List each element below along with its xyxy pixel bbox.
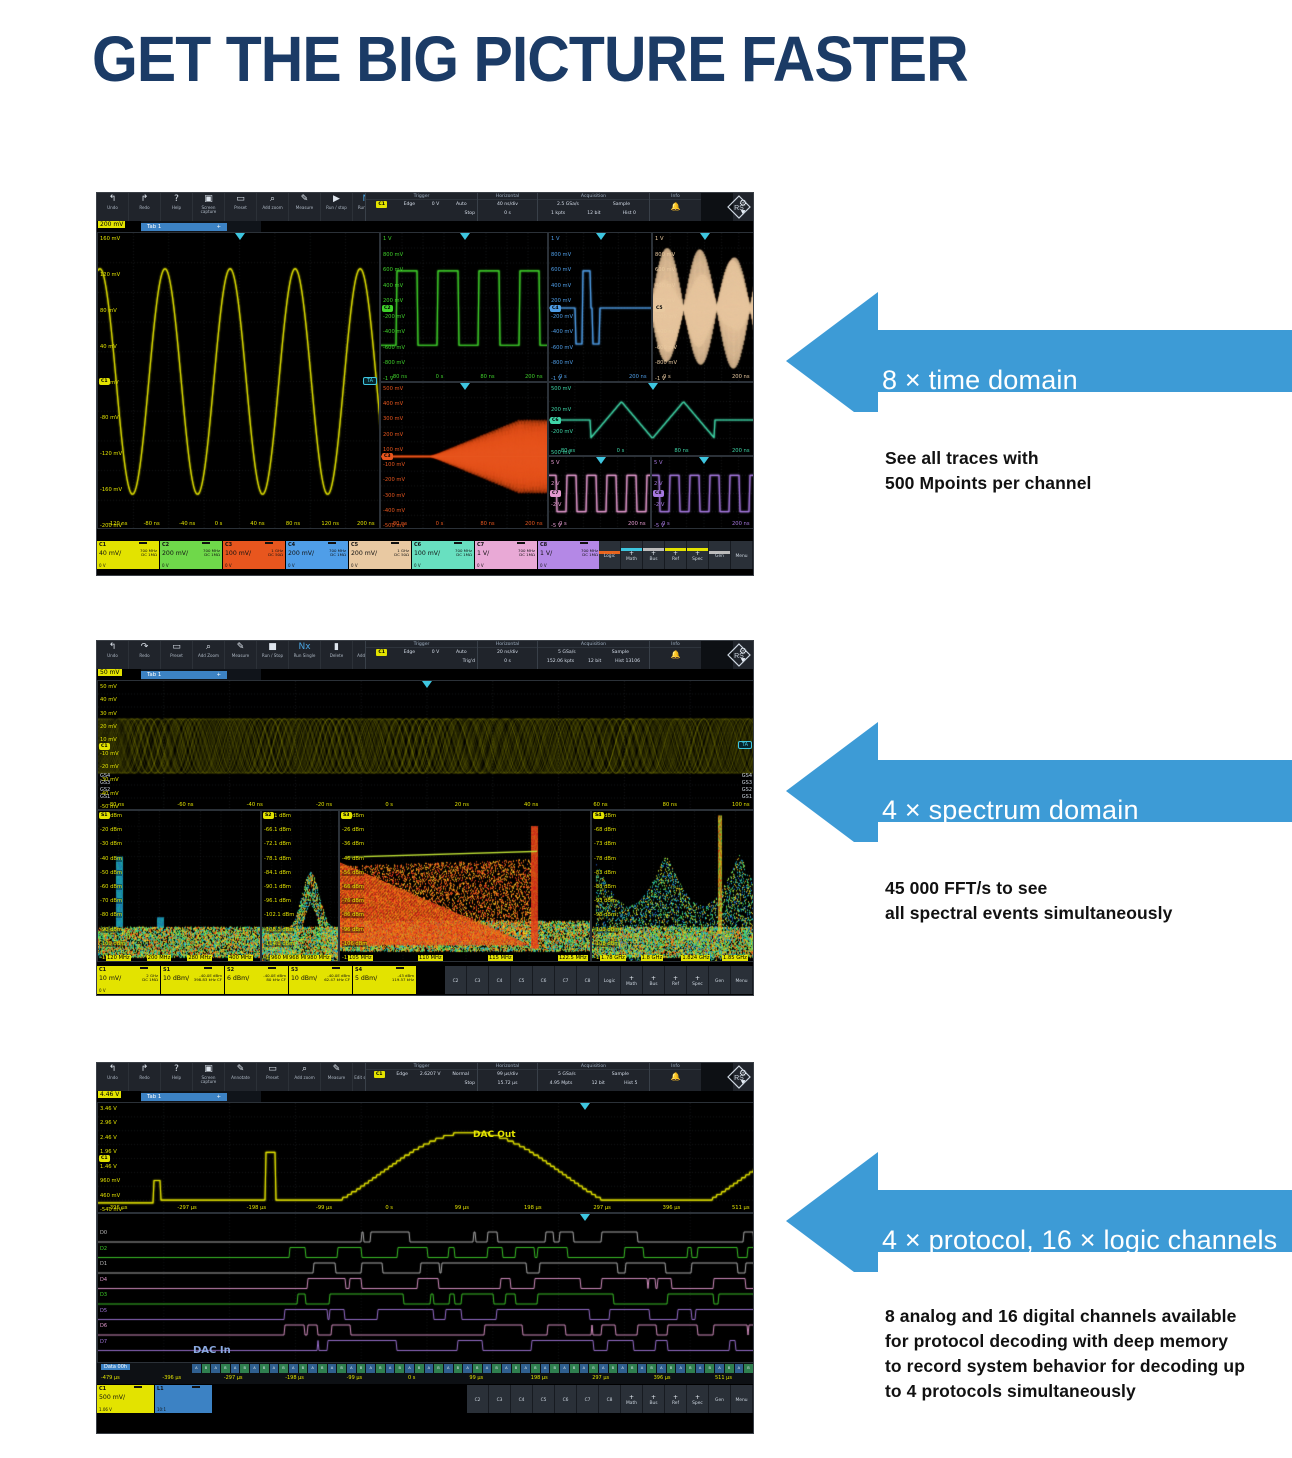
- waveform-panel-c2[interactable]: 1 V800 mV600 mV400 mV200 mV-200 mV-400 m…: [380, 232, 548, 382]
- bus-frame[interactable]: A: [270, 1364, 279, 1373]
- channel-collapse-icon[interactable]: [454, 542, 462, 544]
- function-button-menu[interactable]: Menu: [731, 1385, 753, 1413]
- spectrum-tag-s3[interactable]: S3: [341, 812, 352, 819]
- tab-item-tab1[interactable]: Tab 1+: [141, 671, 227, 679]
- toolbar-button-redo[interactable]: ↱Redo: [129, 193, 161, 221]
- bus-label: Data 00h: [101, 1364, 130, 1370]
- channel-collapse-icon[interactable]: [332, 967, 340, 969]
- function-button-label: C5: [541, 1398, 547, 1403]
- trigger-status-group[interactable]: TriggerC1Edge0 VAutoStop: [365, 193, 477, 221]
- bus-frame[interactable]: B: [299, 1364, 308, 1373]
- x-axis-label: -80 ns: [391, 374, 407, 380]
- bus-frame[interactable]: B: [512, 1364, 521, 1373]
- channel-box-c5[interactable]: C5200 mV/1 GHzDC 50Ω0 V: [349, 541, 412, 569]
- acquisition-row-2: 152.06 kpts12 bitHist 13106: [538, 657, 649, 666]
- toolbar-button-preset[interactable]: ▭Preset: [257, 1063, 289, 1091]
- y-axis-label: 1.46 V: [100, 1164, 117, 1170]
- protocol-bus-row[interactable]: Data 00hABABABABABABABABABABABABABABABAB…: [97, 1363, 754, 1374]
- function-button-logic[interactable]: Logic: [599, 966, 621, 994]
- y-axis-label: -600 mV: [551, 345, 573, 351]
- waveform-panel-c5[interactable]: 1 V800 mV600 mV400 mV200 mV-200 mV-400 m…: [652, 232, 754, 382]
- toolbar-label: Preset: [234, 206, 247, 210]
- measure-icon: ✎: [333, 1065, 341, 1075]
- bus-frame[interactable]: B: [570, 1364, 579, 1373]
- bus-frame[interactable]: B: [492, 1364, 501, 1373]
- function-button-math[interactable]: +Math: [621, 541, 643, 569]
- channel-bandwidth-coupling: 700 MHzDC 1MΩ: [581, 549, 598, 558]
- bus-frame[interactable]: B: [609, 1364, 618, 1373]
- y-axis-label: 2 V: [654, 481, 663, 487]
- trigger-position-marker[interactable]: [580, 1103, 590, 1110]
- channel-tag-c1[interactable]: C1: [99, 378, 110, 385]
- channel-bandwidth-coupling: 700 MHzDC 1MΩ: [455, 549, 472, 558]
- trigger-position-marker[interactable]: [700, 233, 710, 240]
- logic-channels-panel[interactable]: D0D2D1D4D3D5D6D7DAC In: [97, 1213, 754, 1363]
- waveform-panel-c7[interactable]: 5 V2 V-2 V-5 V0 s200 nsC7: [548, 456, 651, 529]
- channel-collapse-icon[interactable]: [517, 542, 525, 544]
- bus-frame[interactable]: B: [454, 1364, 463, 1373]
- y-axis-label: 2.96 V: [100, 1120, 117, 1126]
- tab-item-tab1[interactable]: Tab 1+: [141, 223, 227, 231]
- toolbar-button-measure[interactable]: ✎Measure: [321, 1063, 353, 1091]
- function-button-label: C2: [453, 979, 459, 984]
- bus-frame[interactable]: B: [647, 1364, 656, 1373]
- toolbar-button-delete[interactable]: ▮Delete: [321, 641, 353, 669]
- function-button-menu[interactable]: Menu: [731, 541, 753, 569]
- bus-frame[interactable]: A: [735, 1364, 744, 1373]
- function-button-label: Menu: [735, 554, 747, 559]
- function-button-gen[interactable]: Gen: [709, 1385, 731, 1413]
- y-axis-label: 50 mV: [100, 684, 117, 690]
- bus-frame[interactable]: A: [347, 1364, 356, 1373]
- info-group[interactable]: Info🔔: [649, 1063, 701, 1091]
- toolbar-button-screen-capture[interactable]: ▣Screen capture: [193, 193, 225, 221]
- toolbar-button-add-zoom[interactable]: ⌕Add zoom: [289, 1063, 321, 1091]
- waveform-panel-c8[interactable]: 5 V2 V-2 V-5 V0 s200 nsC8: [651, 456, 754, 529]
- x-axis-label: 100 ns: [732, 802, 750, 808]
- toolbar-button-redo[interactable]: ↷Redo: [129, 641, 161, 669]
- bus-frame[interactable]: A: [463, 1364, 472, 1373]
- spectrum-panel-s4[interactable]: -63 dBm-68 dBm-73 dBm-78 dBm-83 dBm-88 d…: [591, 810, 754, 962]
- logic-line-label-d1: D1: [100, 1261, 107, 1267]
- bus-frame[interactable]: A: [366, 1364, 375, 1373]
- trigger-type: Edge: [404, 201, 416, 208]
- toolbar-button-undo[interactable]: ↰Undo: [97, 1063, 129, 1091]
- trigger-mode: Auto: [456, 201, 467, 208]
- y-axis-label: -300 mV: [383, 493, 405, 499]
- function-button-c2[interactable]: C2: [445, 966, 467, 994]
- function-button-gen[interactable]: Gen: [709, 966, 731, 994]
- toolbar-button-run-stop[interactable]: ■Run / Stop: [257, 641, 289, 669]
- toolbar-label: Screen capture: [193, 206, 224, 215]
- spectrum-tag-s4[interactable]: S4: [593, 812, 604, 819]
- function-button-label: Gen: [715, 979, 724, 984]
- channel-vertical-scale: 1 V/: [477, 550, 489, 557]
- trigger-position-marker[interactable]: [460, 383, 470, 390]
- channel-offset: 0 V: [477, 563, 484, 568]
- bus-frame[interactable]: A: [580, 1364, 589, 1373]
- spectrum-panel-s3[interactable]: -16 dBm-26 dBm-36 dBm-46 dBm-56 dBm-66 d…: [339, 810, 591, 962]
- channel-tag-c3[interactable]: C3: [382, 453, 393, 460]
- bus-frame[interactable]: B: [221, 1364, 230, 1373]
- channel-tag-c1[interactable]: C1: [99, 743, 110, 750]
- toolbar-button-undo[interactable]: ↰Undo: [97, 641, 129, 669]
- time-axis-label: 297 µs: [592, 1375, 609, 1381]
- bus-frame[interactable]: A: [289, 1364, 298, 1373]
- function-button-c4[interactable]: C4: [511, 1385, 533, 1413]
- toolbar-label: Redo: [139, 1076, 149, 1080]
- channel-collapse-icon[interactable]: [192, 1386, 200, 1388]
- channel-box-s1[interactable]: S110 dBm/-40.0E dBm398.83 kHz CF: [161, 966, 225, 994]
- toolbar-button-run-single[interactable]: NxRun Single: [289, 641, 321, 669]
- channel-tag-c8[interactable]: C8: [653, 490, 664, 497]
- bus-frame[interactable]: B: [725, 1364, 734, 1373]
- bus-frame[interactable]: B: [589, 1364, 598, 1373]
- channel-collapse-icon[interactable]: [328, 542, 336, 544]
- channel-box-c7[interactable]: C71 V/700 MHzDC 1MΩ0 V: [475, 541, 538, 569]
- undo-icon: ↰: [109, 195, 117, 205]
- tab-add-button[interactable]: +: [216, 672, 221, 678]
- bus-frame[interactable]: B: [744, 1364, 753, 1373]
- y-axis-label: -73 dBm: [594, 841, 616, 847]
- info-group[interactable]: Info🔔: [649, 641, 701, 669]
- function-button-c3[interactable]: C3: [467, 966, 489, 994]
- acquisition-res: 12 bit: [588, 658, 601, 665]
- channel-offset: 0 V: [288, 563, 295, 568]
- trigger-status-group[interactable]: TriggerC1Edge2.6207 VNormalStop: [365, 1063, 477, 1091]
- tab-item-tab1[interactable]: Tab 1+: [141, 1093, 227, 1101]
- channel-tag-c4[interactable]: C4: [550, 305, 561, 312]
- bus-frame[interactable]: A: [676, 1364, 685, 1373]
- svg-text:RS: RS: [734, 653, 744, 660]
- channel-vertical-scale: 500 mV/: [99, 1394, 125, 1401]
- function-button-c2[interactable]: C2: [467, 1385, 489, 1413]
- bus-frame[interactable]: A: [638, 1364, 647, 1373]
- toolbar-button-help[interactable]: ?Help: [161, 1063, 193, 1091]
- bus-frame[interactable]: A: [328, 1364, 337, 1373]
- bus-frame[interactable]: B: [202, 1364, 211, 1373]
- bus-frame[interactable]: B: [550, 1364, 559, 1373]
- y-axis-label: 200 mV: [383, 298, 403, 304]
- channel-collapse-icon[interactable]: [268, 967, 276, 969]
- waveform-panel-c1[interactable]: 50 mV40 mV30 mV20 mV10 mV-10 mV-20 mV-30…: [97, 680, 754, 810]
- function-button-c3[interactable]: C3: [489, 1385, 511, 1413]
- bus-frame[interactable]: B: [279, 1364, 288, 1373]
- function-button-ref[interactable]: +Ref: [665, 966, 687, 994]
- function-button-c6[interactable]: C6: [555, 1385, 577, 1413]
- function-button-ref[interactable]: +Ref: [665, 541, 687, 569]
- logic-canvas: [98, 1214, 754, 1363]
- channel-vertical-scale: 10 mV/: [99, 975, 121, 982]
- trigger-position-marker[interactable]: [596, 233, 606, 240]
- bus-frame[interactable]: B: [260, 1364, 269, 1373]
- waveform-panel-c4[interactable]: 1 V800 mV600 mV400 mV200 mV-200 mV-400 m…: [548, 232, 652, 382]
- acquisition-hist: Hist 5: [624, 1080, 637, 1087]
- y-axis-label: -40 dBm: [100, 856, 122, 862]
- x-axis-label: -80 ns: [144, 521, 160, 527]
- function-button-spec[interactable]: +Spec: [687, 966, 709, 994]
- horizontal-settings-group[interactable]: Horizontal99 µs/div15.72 µs: [477, 1063, 537, 1091]
- y-axis-label: -200 mV: [383, 477, 405, 483]
- channel-box-c8[interactable]: C81 V/700 MHzDC 1MΩ0 V: [538, 541, 601, 569]
- bus-frame[interactable]: B: [667, 1364, 676, 1373]
- horizontal-title: Horizontal: [478, 193, 537, 200]
- channel-collapse-icon[interactable]: [204, 967, 212, 969]
- channel-collapse-icon[interactable]: [139, 542, 147, 544]
- toolbar-button-measure[interactable]: ✎Measure: [289, 193, 321, 221]
- channel-detail: -40.0E dBm62.47 kHz CF: [324, 974, 350, 983]
- bus-frame[interactable]: A: [502, 1364, 511, 1373]
- spectrum-tag-s2[interactable]: S2: [263, 812, 274, 819]
- channel-box-c6[interactable]: C6100 mV/700 MHzDC 1MΩ0 V: [412, 541, 475, 569]
- channel-box-s4[interactable]: S45 dBm/-43 dBm119.57 kHz: [353, 966, 417, 994]
- channel-tag-c6[interactable]: C6: [550, 417, 561, 424]
- bus-frame[interactable]: B: [686, 1364, 695, 1373]
- horizontal-row-2: 15.72 µs: [478, 1079, 537, 1088]
- toolbar-button-run-stop[interactable]: ▶Run / stop: [321, 193, 353, 221]
- toolbar-label: Measure: [232, 654, 249, 658]
- bus-frame[interactable]: A: [425, 1364, 434, 1373]
- tab-add-button[interactable]: +: [216, 224, 221, 230]
- bus-frame[interactable]: B: [415, 1364, 424, 1373]
- bus-frame[interactable]: A: [386, 1364, 395, 1373]
- channel-collapse-icon[interactable]: [140, 967, 148, 969]
- trigger-position-marker[interactable]: [648, 383, 658, 390]
- acquisition-settings-group[interactable]: Acquisition5 GSa/sSample4.95 Mpts12 bitH…: [537, 1063, 649, 1091]
- x-axis-label: 1.78 GHz: [600, 955, 626, 961]
- function-button-ref[interactable]: +Ref: [665, 1385, 687, 1413]
- x-axis-label: 105 MHz: [348, 955, 373, 961]
- gate-marker-gs4: GS4: [100, 773, 110, 779]
- y-axis-label: 5 V: [551, 460, 560, 466]
- function-button-bus[interactable]: +Bus: [643, 1385, 665, 1413]
- acquisition-rate: 2.5 GSa/s: [557, 201, 579, 208]
- bus-frame[interactable]: A: [192, 1364, 201, 1373]
- toolbar-button-help[interactable]: ?Help: [161, 193, 193, 221]
- function-button-bar: C2C3C4C5C6C7C8Logic+Math+Bus+Ref+SpecGen…: [445, 966, 753, 994]
- bus-frame[interactable]: A: [405, 1364, 414, 1373]
- channel-tag-c7[interactable]: C7: [550, 490, 561, 497]
- logic-line-label-d2: D2: [100, 1246, 107, 1252]
- channel-bandwidth-coupling: 700 MHzDC 1MΩ: [518, 549, 535, 558]
- channel-bandwidth-coupling: 700 MHzDC 1MΩ: [140, 549, 157, 558]
- y-axis-label: -20 mV: [100, 764, 119, 770]
- bus-frame[interactable]: B: [376, 1364, 385, 1373]
- rohde-schwarz-logo: RS: [727, 1065, 751, 1089]
- y-axis-label: 400 mV: [551, 283, 571, 289]
- trigger-position-marker[interactable]: [422, 681, 432, 688]
- bus-frame[interactable]: B: [318, 1364, 327, 1373]
- channel-vertical-scale: 10 dBm/: [291, 975, 317, 982]
- channel-tag-c1[interactable]: C1: [99, 1155, 110, 1162]
- y-axis-label: 120 mV: [100, 272, 120, 278]
- x-axis-label: 1.8 GHz: [641, 955, 664, 961]
- waveform-panel-c3[interactable]: 500 mV400 mV300 mV200 mV100 mV-100 mV-20…: [380, 382, 548, 529]
- bus-frame[interactable]: A: [618, 1364, 627, 1373]
- function-button-c5[interactable]: C5: [511, 966, 533, 994]
- trigger-status-group[interactable]: TriggerC1Edge0 VAutoTrig'd: [365, 641, 477, 669]
- trigger-position-marker[interactable]: [596, 457, 606, 464]
- function-button-c8[interactable]: C8: [577, 966, 599, 994]
- y-axis-label: 800 mV: [551, 252, 571, 258]
- bus-frame[interactable]: B: [357, 1364, 366, 1373]
- channel-collapse-icon[interactable]: [580, 542, 588, 544]
- gate-marker-gs2: GS2: [100, 787, 110, 793]
- channel-collapse-icon[interactable]: [391, 542, 399, 544]
- channel-collapse-icon[interactable]: [134, 1386, 142, 1388]
- toolbar-button-preset[interactable]: ▭Preset: [161, 641, 193, 669]
- bus-frame[interactable]: A: [483, 1364, 492, 1373]
- y-axis-label: 200 mV: [655, 298, 675, 304]
- function-button-c4[interactable]: C4: [489, 966, 511, 994]
- svg-text:RS: RS: [734, 205, 744, 212]
- toolbar-button-preset[interactable]: ▭Preset: [225, 193, 257, 221]
- logic-trigger-marker[interactable]: [580, 1214, 590, 1221]
- bus-frame[interactable]: B: [240, 1364, 249, 1373]
- y-axis-label: 600 mV: [655, 267, 675, 273]
- channel-box-c2[interactable]: C2200 mV/700 MHzDC 1MΩ0 V: [160, 541, 223, 569]
- toolbar-button-screen-capture[interactable]: ▣Screen capture: [193, 1063, 225, 1091]
- function-button-menu[interactable]: Menu: [731, 966, 753, 994]
- function-button-label: Bus: [649, 1401, 657, 1406]
- channel-box-c1[interactable]: C1500 mV/1.06 V: [97, 1385, 155, 1413]
- redo-icon: ↷: [141, 643, 149, 653]
- waveform-panel-c1[interactable]: 160 mV120 mV80 mV40 mV-40 mV-80 mV-120 m…: [97, 232, 380, 529]
- toolbar-label: Redo: [139, 206, 149, 210]
- toolbar-button-annotate[interactable]: ✎Annotate: [225, 1063, 257, 1091]
- channel-box-c1[interactable]: C110 mV/2 GHzDC 1MΩ0 V: [97, 966, 161, 994]
- channel-collapse-icon[interactable]: [396, 967, 404, 969]
- horizontal-settings-group[interactable]: Horizontal20 ns/div0 s: [477, 641, 537, 669]
- waveform-panel-c6[interactable]: 500 mV200 mV-200 mV500 mV-80 ns0 s80 ns2…: [548, 382, 754, 456]
- bus-frame[interactable]: B: [531, 1364, 540, 1373]
- acquisition-settings-group[interactable]: Acquisition2.5 GSa/sSample1 kpts12 bitHi…: [537, 193, 649, 221]
- trigger-position-marker[interactable]: [235, 233, 245, 240]
- y-axis-label: -400 mV: [655, 329, 677, 335]
- trigger-position-marker[interactable]: [460, 233, 470, 240]
- toolbar-button-add-zoom[interactable]: ⌕Add zoom: [257, 193, 289, 221]
- spectrum-tag-s1[interactable]: S1: [99, 812, 110, 819]
- function-button-spec[interactable]: +Spec: [687, 1385, 709, 1413]
- trigger-position-marker[interactable]: [699, 457, 709, 464]
- toolbar-button-undo[interactable]: ↰Undo: [97, 193, 129, 221]
- function-button-math[interactable]: +Math: [621, 1385, 643, 1413]
- y-axis-label: -400 mV: [551, 329, 573, 335]
- acquisition-row-1: 5 GSa/sSample: [538, 648, 649, 657]
- function-button-label: C7: [563, 979, 569, 984]
- function-button-bar: Logic+Math+Bus+Ref+SpecGenMenu: [599, 541, 753, 569]
- bus-frame[interactable]: A: [599, 1364, 608, 1373]
- bus-frame[interactable]: A: [560, 1364, 569, 1373]
- y-axis-label: 800 mV: [383, 252, 403, 258]
- waveform-panel-c1[interactable]: 3.46 V2.96 V2.46 V1.96 V1.46 V960 mV460 …: [97, 1102, 754, 1213]
- channel-tag-c2[interactable]: C2: [382, 305, 393, 312]
- trigger-title: Trigger: [366, 193, 477, 200]
- bus-frame[interactable]: A: [250, 1364, 259, 1373]
- bus-frame[interactable]: B: [473, 1364, 482, 1373]
- toolbar-label: Help: [172, 206, 181, 210]
- function-button-logic[interactable]: Logic: [599, 541, 621, 569]
- y-axis-label: -72.1 dBm: [264, 841, 291, 847]
- trigger-level: 0 V: [432, 201, 440, 208]
- y-axis-label: -36 dBm: [342, 841, 364, 847]
- bus-frame[interactable]: B: [337, 1364, 346, 1373]
- channel-vertical-scale: 200 mV/: [288, 550, 314, 557]
- trigger-level-marker-ta[interactable]: TA: [363, 377, 377, 385]
- x-axis-label: 200 ns: [732, 374, 750, 380]
- bus-frame[interactable]: A: [541, 1364, 550, 1373]
- toolbar-button-add-zoom[interactable]: ⌕Add Zoom: [193, 641, 225, 669]
- channel-bandwidth-coupling: 700 MHzDC 1MΩ: [203, 549, 220, 558]
- bus-frame[interactable]: B: [395, 1364, 404, 1373]
- bus-frame[interactable]: B: [434, 1364, 443, 1373]
- function-button-gen[interactable]: Gen: [709, 541, 731, 569]
- waveform-annotation: DAC Out: [473, 1130, 516, 1140]
- function-button-c8[interactable]: C8: [599, 1385, 621, 1413]
- tab-add-button[interactable]: +: [216, 1094, 221, 1100]
- horizontal-settings-group[interactable]: Horizontal40 ns/div0 s: [477, 193, 537, 221]
- bus-frame[interactable]: A: [308, 1364, 317, 1373]
- channel-box-s3[interactable]: S310 dBm/-40.0E dBm62.47 kHz CF: [289, 966, 353, 994]
- bus-frame[interactable]: B: [705, 1364, 714, 1373]
- toolbar-button-measure[interactable]: ✎Measure: [225, 641, 257, 669]
- toolbar-button-redo[interactable]: ↱Redo: [129, 1063, 161, 1091]
- channel-collapse-icon[interactable]: [265, 542, 273, 544]
- bus-frame[interactable]: A: [444, 1364, 453, 1373]
- channel-box-l1[interactable]: L110:1: [155, 1385, 213, 1413]
- spectrum-panel-s2[interactable]: -60.1 dBm-66.1 dBm-72.1 dBm-78.1 dBm-84.…: [261, 810, 339, 962]
- channel-tag-c5[interactable]: C5: [654, 305, 665, 312]
- function-button-label: Spec: [692, 982, 703, 987]
- channel-box-s2[interactable]: S26 dBm/-40.0E dBm80 kHz CF: [225, 966, 289, 994]
- function-button-math[interactable]: +Math: [621, 966, 643, 994]
- channel-box-c4[interactable]: C4200 mV/700 MHzDC 1MΩ0 V: [286, 541, 349, 569]
- function-button-c5[interactable]: C5: [533, 1385, 555, 1413]
- function-button-c7[interactable]: C7: [555, 966, 577, 994]
- spectrum-panel-s1[interactable]: -10 dBm-20 dBm-30 dBm-40 dBm-50 dBm-60 d…: [97, 810, 261, 962]
- bus-frame[interactable]: A: [521, 1364, 530, 1373]
- bus-frame[interactable]: A: [657, 1364, 666, 1373]
- function-button-bus[interactable]: +Bus: [643, 966, 665, 994]
- bus-frame[interactable]: A: [231, 1364, 240, 1373]
- bus-frame[interactable]: A: [211, 1364, 220, 1373]
- function-button-label: Logic: [604, 979, 615, 984]
- x-axis-label: 200 ns: [525, 521, 543, 527]
- function-button-spec[interactable]: +Spec: [687, 541, 709, 569]
- channel-box-c1[interactable]: C140 mV/700 MHzDC 1MΩ0 V: [97, 541, 160, 569]
- x-axis-label: 0 s: [559, 374, 567, 380]
- function-button-bus[interactable]: +Bus: [643, 541, 665, 569]
- horizontal-scale: 20 ns/div: [497, 649, 518, 656]
- acquisition-settings-group[interactable]: Acquisition5 GSa/sSample152.06 kpts12 bi…: [537, 641, 649, 669]
- y-axis-label: 2.46 V: [100, 1135, 117, 1141]
- trigger-level-marker-ta[interactable]: TA: [738, 741, 752, 749]
- channel-box-c3[interactable]: C3100 mV/1 GHzDC 50Ω0 V: [223, 541, 286, 569]
- bus-frame[interactable]: A: [696, 1364, 705, 1373]
- time-axis-label: -99 µs: [347, 1375, 363, 1381]
- bus-frame[interactable]: A: [715, 1364, 724, 1373]
- x-axis-label: 0 s: [385, 802, 393, 808]
- help-icon: ?: [174, 1065, 179, 1075]
- bus-frame[interactable]: B: [628, 1364, 637, 1373]
- zoom-icon: ⌕: [270, 195, 275, 205]
- function-button-c6[interactable]: C6: [533, 966, 555, 994]
- x-axis-label: 60 ns: [593, 802, 607, 808]
- info-group[interactable]: Info🔔: [649, 193, 701, 221]
- function-button-c7[interactable]: C7: [577, 1385, 599, 1413]
- channel-collapse-icon[interactable]: [202, 542, 210, 544]
- acquisition-title: Acquisition: [538, 641, 649, 648]
